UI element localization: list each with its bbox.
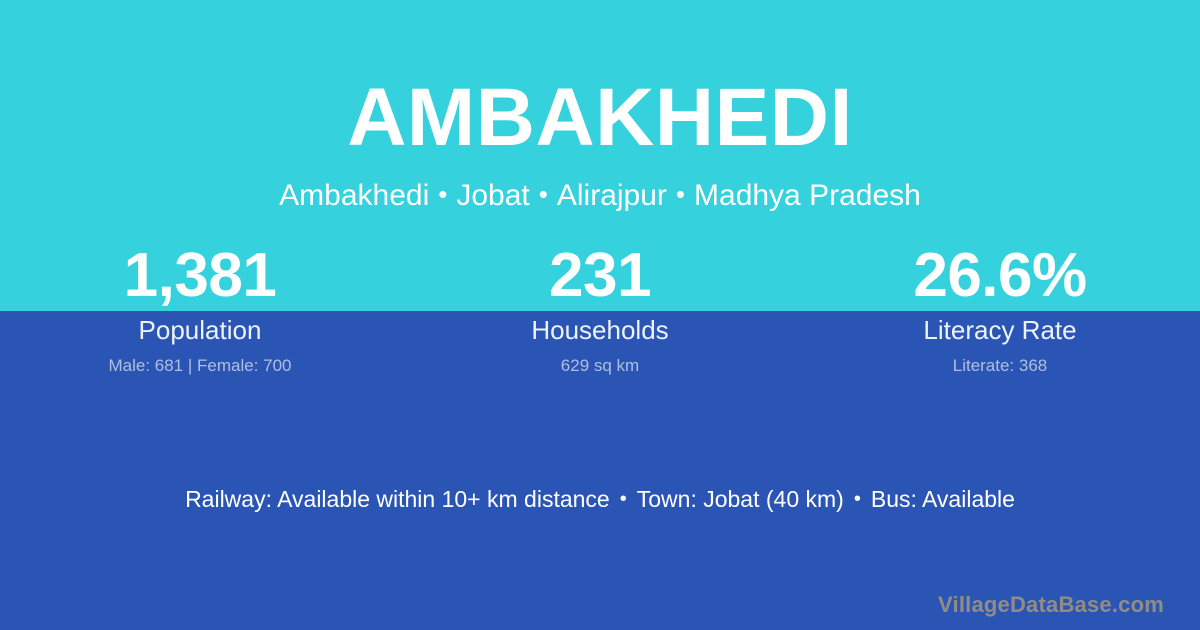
stat-sublabel: Literate: 368	[800, 357, 1200, 374]
stat-label: Households	[400, 317, 800, 343]
site-watermark: VillageDataBase.com	[938, 594, 1164, 616]
breadcrumb-district: Alirajpur	[557, 179, 667, 212]
stat-sublabel: Male: 681 | Female: 700	[0, 357, 400, 374]
page-title: AMBAKHEDI	[0, 0, 1200, 159]
info-bus: Bus: Available	[871, 486, 1015, 512]
breadcrumb-village: Ambakhedi	[279, 179, 429, 212]
stat-population: 1,381 Population Male: 681 | Female: 700	[0, 245, 400, 374]
breadcrumb-separator: •	[667, 179, 694, 209]
info-separator: •	[610, 488, 637, 510]
stat-households: 231 Households 629 sq km	[400, 245, 800, 374]
header: AMBAKHEDI Ambakhedi•Jobat•Alirajpur•Madh…	[0, 0, 1200, 211]
stat-value: 231	[400, 245, 800, 307]
breadcrumb-state: Madhya Pradesh	[694, 179, 921, 212]
breadcrumb-block: Jobat	[456, 179, 529, 212]
stat-label: Literacy Rate	[800, 317, 1200, 343]
info-separator: •	[844, 488, 871, 510]
breadcrumb: Ambakhedi•Jobat•Alirajpur•Madhya Pradesh	[0, 159, 1200, 211]
info-town: Town: Jobat (40 km)	[637, 486, 844, 512]
village-info-card: AMBAKHEDI Ambakhedi•Jobat•Alirajpur•Madh…	[0, 0, 1200, 630]
stat-value: 26.6%	[800, 245, 1200, 307]
breadcrumb-separator: •	[530, 179, 557, 209]
stat-value: 1,381	[0, 245, 400, 307]
stat-literacy-rate: 26.6% Literacy Rate Literate: 368	[800, 245, 1200, 374]
stat-sublabel: 629 sq km	[400, 357, 800, 374]
info-railway: Railway: Available within 10+ km distanc…	[185, 486, 610, 512]
breadcrumb-separator: •	[429, 179, 456, 209]
amenities-info-line: Railway: Available within 10+ km distanc…	[0, 486, 1200, 514]
stats-row: 1,381 Population Male: 681 | Female: 700…	[0, 245, 1200, 374]
stat-label: Population	[0, 317, 400, 343]
